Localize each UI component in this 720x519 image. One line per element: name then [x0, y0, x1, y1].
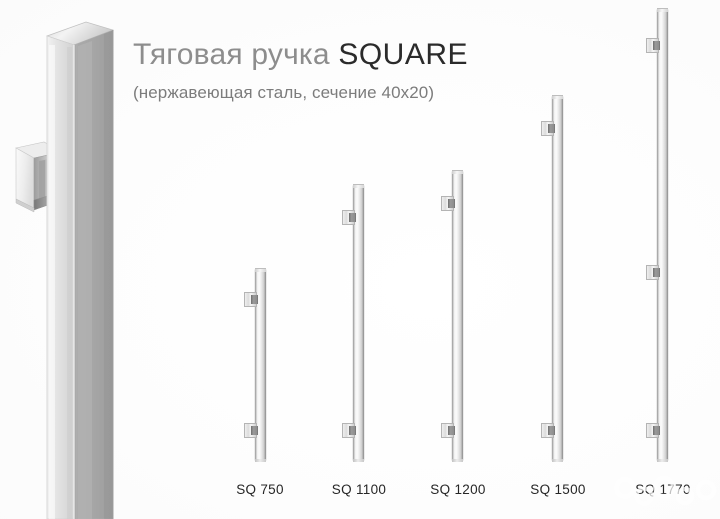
bar-top-cap [657, 8, 668, 12]
handle-bar [452, 172, 463, 460]
label-sq-1770: SQ 1770 [635, 482, 690, 498]
bracket-bottom [441, 423, 454, 438]
bracket-neck [349, 426, 356, 435]
bar-bottom-cap [552, 459, 563, 462]
bracket-top [646, 38, 659, 53]
bar-bottom-cap [255, 459, 266, 462]
bar-top-cap [452, 170, 463, 174]
bar-top-cap [353, 184, 364, 188]
bracket-neck [448, 426, 455, 435]
bracket-top [441, 196, 454, 211]
bracket-bottom [244, 423, 257, 438]
bracket-neck [251, 295, 258, 304]
bracket-bottom [646, 423, 659, 438]
bar-bottom-cap [657, 459, 668, 462]
bracket-neck [448, 199, 455, 208]
bracket-top [541, 121, 554, 136]
bracket-neck [548, 426, 555, 435]
bracket-neck [349, 213, 356, 222]
label-sq-750: SQ 750 [236, 482, 284, 498]
title-prefix: Тяговая ручка [133, 38, 338, 71]
label-sq-1500: SQ 1500 [530, 482, 585, 498]
handle-bar [353, 186, 364, 460]
bar-bottom-cap [353, 459, 364, 462]
hero-handle-illustration [0, 0, 135, 519]
bracket-neck [653, 426, 660, 435]
bracket-neck [548, 124, 555, 133]
bracket-top [244, 292, 257, 307]
handle-bar [552, 97, 563, 460]
label-sq-1200: SQ 1200 [430, 482, 485, 498]
heading-block: Тяговая ручка SQUARE (нержавеющая сталь,… [133, 36, 573, 104]
bracket-neck [653, 41, 660, 50]
page-title: Тяговая ручка SQUARE [133, 36, 573, 74]
bracket-bottom [342, 423, 355, 438]
page-subtitle: (нержавеющая сталь, сечение 40x20) [133, 82, 573, 104]
product-image-canvas: Тяговая ручка SQUARE (нержавеющая сталь,… [0, 0, 720, 519]
bracket-middle [646, 265, 659, 280]
bar-top-cap [255, 268, 266, 272]
bar-top-cap [552, 95, 563, 99]
bracket-neck [251, 426, 258, 435]
bracket-neck [653, 268, 660, 277]
handle-bar [657, 10, 668, 460]
bar-bottom-cap [452, 459, 463, 462]
label-sq-1100: SQ 1100 [332, 482, 386, 498]
bracket-top [342, 210, 355, 225]
title-brand: SQUARE [338, 38, 468, 71]
bracket-bottom [541, 423, 554, 438]
hero-square-bar [47, 22, 113, 519]
